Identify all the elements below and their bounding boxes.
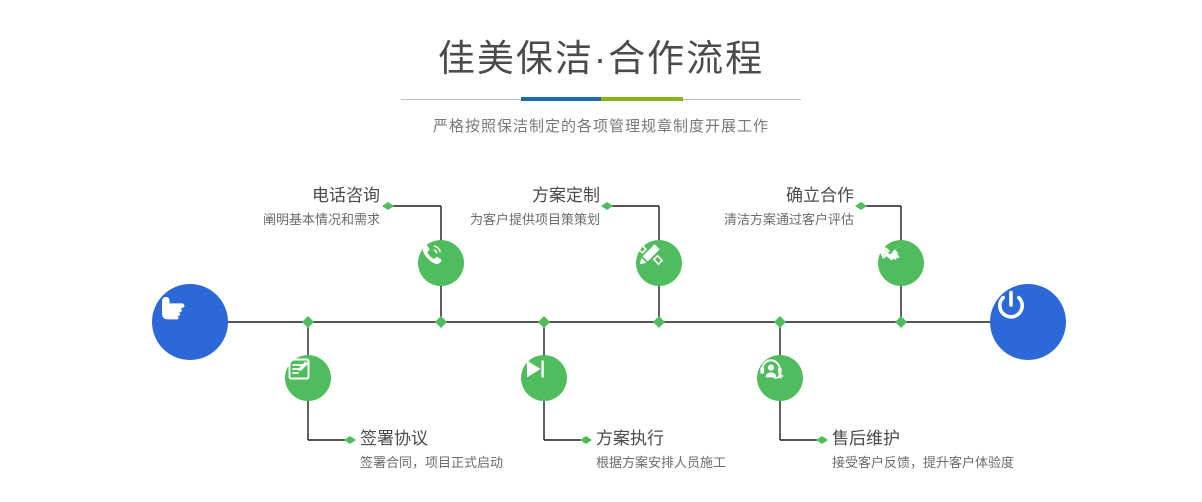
step-desc-establish-cooperation: 清洁方案通过客户评估 — [604, 210, 854, 230]
step-title-phone-consult: 电话咨询 — [130, 185, 380, 206]
marker-sign-agreement-label — [344, 436, 356, 444]
process-flow-diagram: 电话咨询 阐明基本情况和需求 方案定制 为客户提供项目策策划 确立合作 清洁方案… — [0, 0, 1202, 502]
marker-after-sales-axis — [774, 316, 786, 328]
step-icon-sign-agreement[interactable] — [285, 355, 331, 401]
step-icon-after-sales[interactable] — [757, 355, 803, 401]
step-desc-sign-agreement: 签署合同，项目正式启动 — [360, 453, 620, 473]
step-title-sign-agreement: 签署协议 — [360, 428, 620, 449]
step-label-establish-cooperation: 确立合作 清洁方案通过客户评估 — [604, 185, 854, 230]
step-desc-plan-execute: 根据方案安排人员施工 — [596, 453, 856, 473]
step-desc-after-sales: 接受客户反馈，提升客户体验度 — [832, 453, 1112, 473]
marker-phone-consult-axis — [435, 316, 447, 328]
step-icon-phone-consult[interactable] — [418, 240, 464, 286]
step-label-phone-consult: 电话咨询 阐明基本情况和需求 — [130, 185, 380, 230]
step-desc-phone-consult: 阐明基本情况和需求 — [130, 210, 380, 230]
marker-sign-agreement-axis — [302, 316, 314, 328]
flow-end-badge[interactable] — [990, 284, 1066, 360]
marker-establish-cooperation-label — [855, 202, 867, 210]
marker-establish-cooperation-axis — [895, 316, 907, 328]
step-icon-establish-cooperation[interactable] — [878, 240, 924, 286]
step-title-after-sales: 售后维护 — [832, 428, 1112, 449]
step-label-sign-agreement: 签署协议 签署合同，项目正式启动 — [360, 428, 620, 473]
step-title-establish-cooperation: 确立合作 — [604, 185, 854, 206]
connector-lines-layer — [0, 0, 1202, 502]
marker-plan-custom-axis — [653, 316, 665, 328]
step-icon-plan-execute[interactable] — [521, 355, 567, 401]
step-label-plan-custom: 方案定制 为客户提供项目策策划 — [350, 185, 600, 230]
step-label-after-sales: 售后维护 接受客户反馈，提升客户体验度 — [832, 428, 1112, 473]
step-label-plan-execute: 方案执行 根据方案安排人员施工 — [596, 428, 856, 473]
step-desc-plan-custom: 为客户提供项目策策划 — [350, 210, 600, 230]
step-title-plan-custom: 方案定制 — [350, 185, 600, 206]
flow-start-badge[interactable] — [152, 284, 228, 360]
step-title-plan-execute: 方案执行 — [596, 428, 856, 449]
marker-plan-execute-axis — [538, 316, 550, 328]
step-icon-plan-custom[interactable] — [636, 240, 682, 286]
